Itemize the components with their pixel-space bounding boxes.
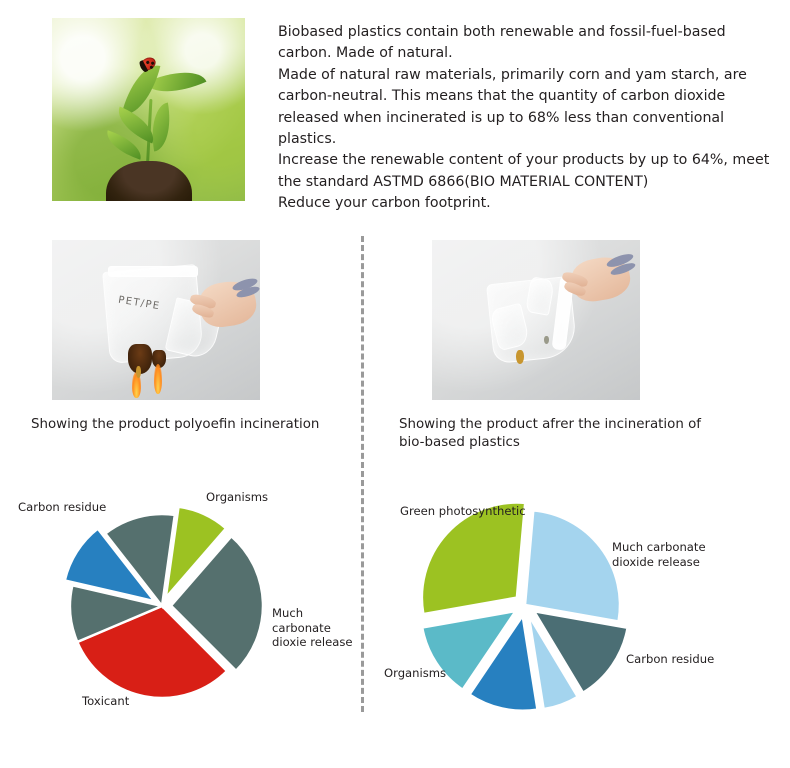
pie-left-label-organisms: Organisms: [206, 490, 268, 505]
pie-slice: [525, 510, 620, 621]
pie-left-label-carbon-residue: Carbon residue: [18, 500, 106, 515]
pie-left-label-toxicant: Toxicant: [82, 694, 129, 709]
intro-paragraph-4: Reduce your carbon footprint.: [278, 193, 770, 214]
pie-slice: [422, 503, 525, 614]
intro-paragraph-1: Biobased plastics contain both renewable…: [278, 22, 770, 65]
pie-left-label-much-carbonate-line1: Much carbonate: [272, 606, 358, 635]
caption-right: Showing the product afrer the incinerati…: [399, 416, 719, 452]
intro-paragraph-3: Increase the renewable content of your p…: [278, 150, 770, 193]
pie-left-label-much-carbonate: Much carbonate dioxie release: [272, 606, 358, 650]
bio-based-incineration-pie-chart: Green photosynthetic Much carbonate diox…: [380, 478, 780, 718]
flame-shape: [154, 364, 162, 394]
pie-right-label-carbon-residue: Carbon residue: [626, 652, 714, 667]
pie-slices-left: [65, 507, 263, 698]
pie-right-label-much-carbonate-line2: dioxide release: [612, 555, 712, 570]
bio-based-incineration-photo: [432, 240, 640, 400]
melt-drip-shape: [516, 350, 524, 364]
melt-drip-shape: [136, 366, 141, 378]
polyolefin-incineration-photo: PET/PE: [52, 240, 260, 400]
pie-right-label-much-carbonate-line1: Much carbonate: [612, 540, 712, 555]
plastic-bag-seal: [108, 266, 198, 277]
intro-paragraph-2: Made of natural raw materials, primarily…: [278, 65, 770, 151]
caption-left: Showing the product polyoefin incinerati…: [31, 416, 361, 434]
pie-right-label-green-photosynthetic: Green photosynthetic: [400, 504, 526, 519]
intro-text-block: Biobased plastics contain both renewable…: [278, 22, 770, 215]
pie-right-label-organisms: Organisms: [384, 666, 446, 681]
pie-left-label-much-carbonate-line2: dioxie release: [272, 635, 358, 650]
pie-right-label-much-carbonate: Much carbonate dioxide release: [612, 540, 712, 569]
seedling-photo: [52, 18, 245, 201]
pie-slices-right: [422, 503, 628, 711]
polyolefin-incineration-pie-chart: Carbon residue Organisms Much carbonate …: [10, 478, 362, 718]
melt-drip-shape: [544, 336, 549, 344]
